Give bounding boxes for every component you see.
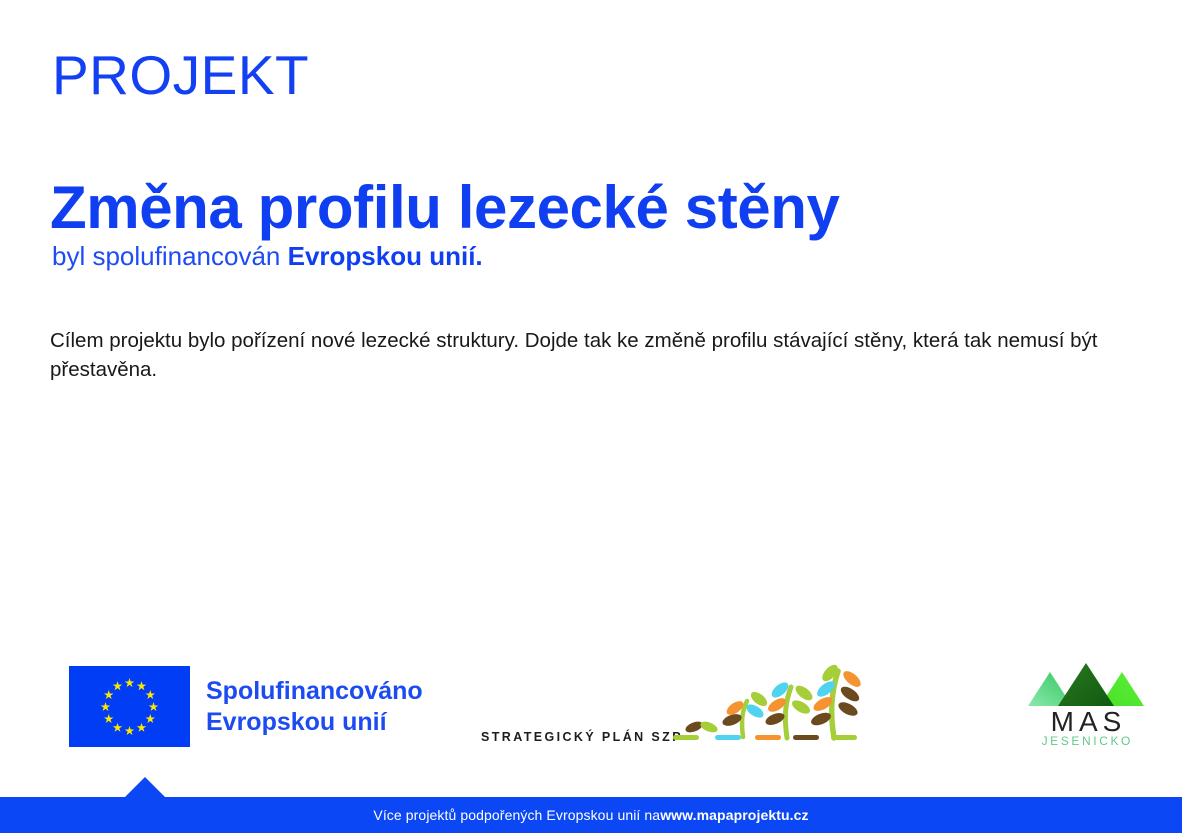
growing-plants-icon xyxy=(671,661,861,749)
eu-funding-logo: Spolufinancováno Evropskou unií xyxy=(69,666,423,747)
funding-subline: byl spolufinancován Evropskou unií. xyxy=(52,240,483,273)
eu-flag-icon xyxy=(69,666,190,747)
eu-logo-wordmark: Spolufinancováno Evropskou unií xyxy=(206,676,423,737)
szp-logo-label: STRATEGICKÝ PLÁN SZP xyxy=(481,730,683,744)
footer-band-text: Více projektů podpořených Evropskou unií… xyxy=(0,797,1182,833)
funding-subline-strong: Evropskou unií. xyxy=(288,241,483,271)
footer-link[interactable]: www.mapaprojektu.cz xyxy=(660,807,808,823)
mas-jesenicko-logo: MAS JESENICKO xyxy=(1028,662,1144,748)
mountains-icon xyxy=(1028,662,1144,710)
eu-logo-line-2: Evropskou unií xyxy=(206,707,423,738)
page-title: Změna profilu lezecké stěny xyxy=(50,176,839,239)
footer-band-notch xyxy=(124,777,166,798)
eu-logo-line-1: Spolufinancováno xyxy=(206,676,423,707)
project-description: Cílem projektu bylo pořízení nové lezeck… xyxy=(50,326,1145,384)
footer-text-prefix: Více projektů podpořených Evropskou unií… xyxy=(373,807,660,823)
mas-logo-region: JESENICKO xyxy=(1028,734,1144,748)
szp-strategic-plan-logo: STRATEGICKÝ PLÁN SZP xyxy=(481,661,861,749)
poster-kicker: PROJEKT xyxy=(52,48,309,103)
funding-subline-prefix: byl spolufinancován xyxy=(52,241,288,271)
project-poster: PROJEKT Změna profilu lezecké stěny byl … xyxy=(0,0,1182,836)
